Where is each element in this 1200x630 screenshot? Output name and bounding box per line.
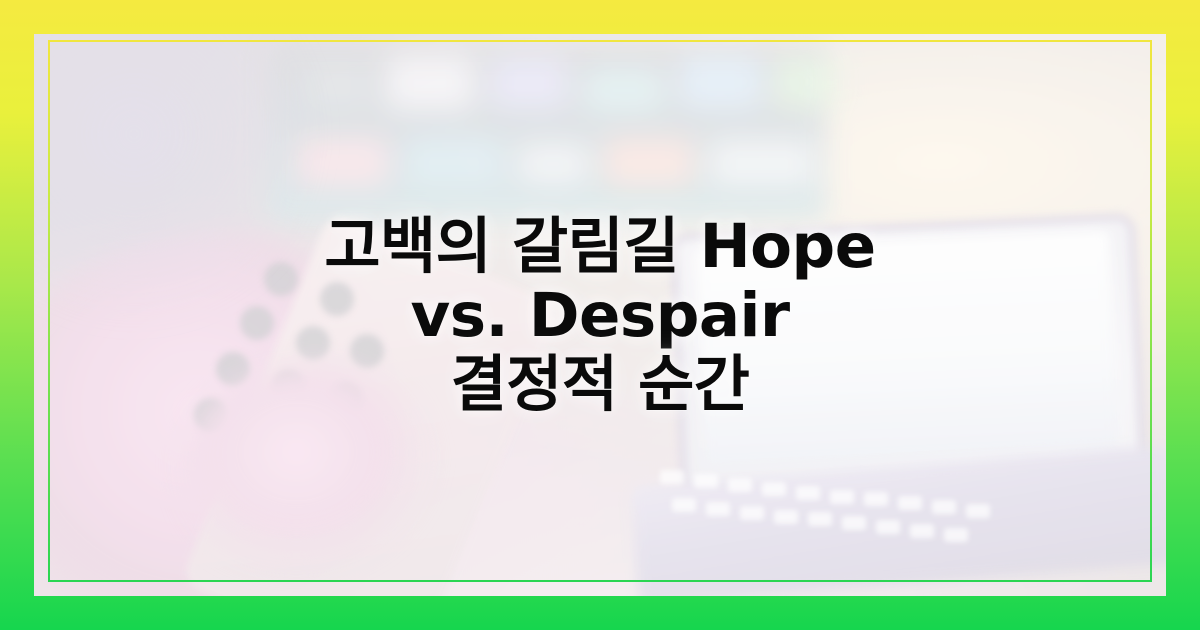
thumbnail-canvas: 고백의 갈림길 Hope vs. Despair 결정적 순간 <box>0 0 1200 630</box>
title-container: 고백의 갈림길 Hope vs. Despair 결정적 순간 <box>0 0 1200 630</box>
page-title: 고백의 갈림길 Hope vs. Despair 결정적 순간 <box>110 212 1090 419</box>
